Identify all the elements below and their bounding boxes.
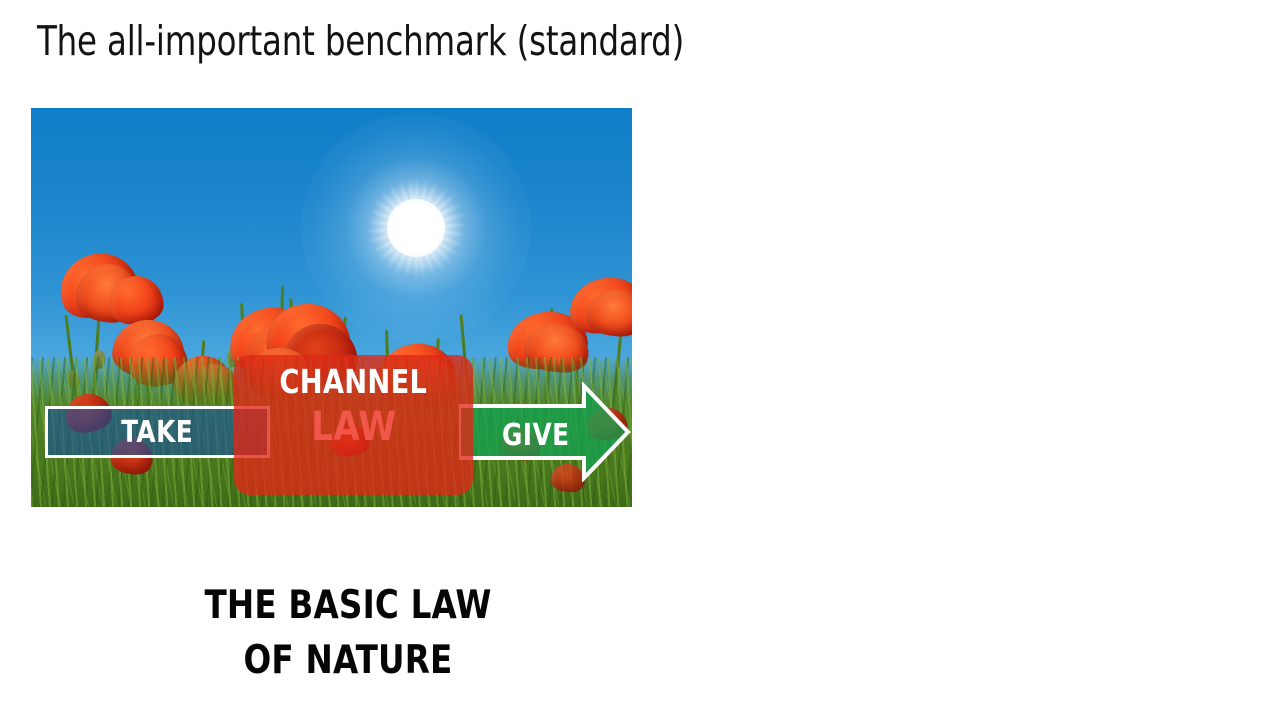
caption-line-1: THE BASIC LAW bbox=[106, 578, 590, 633]
caption: THE BASIC LAW OF NATURE bbox=[88, 578, 608, 689]
grass-texture bbox=[31, 357, 632, 507]
caption-line-2: OF NATURE bbox=[106, 633, 590, 688]
poppy-field-photo: GIVE TAKE CHANNEL LAW bbox=[31, 108, 632, 507]
page-title: The all-important benchmark (standard) bbox=[37, 17, 684, 65]
sun-icon bbox=[387, 199, 445, 257]
